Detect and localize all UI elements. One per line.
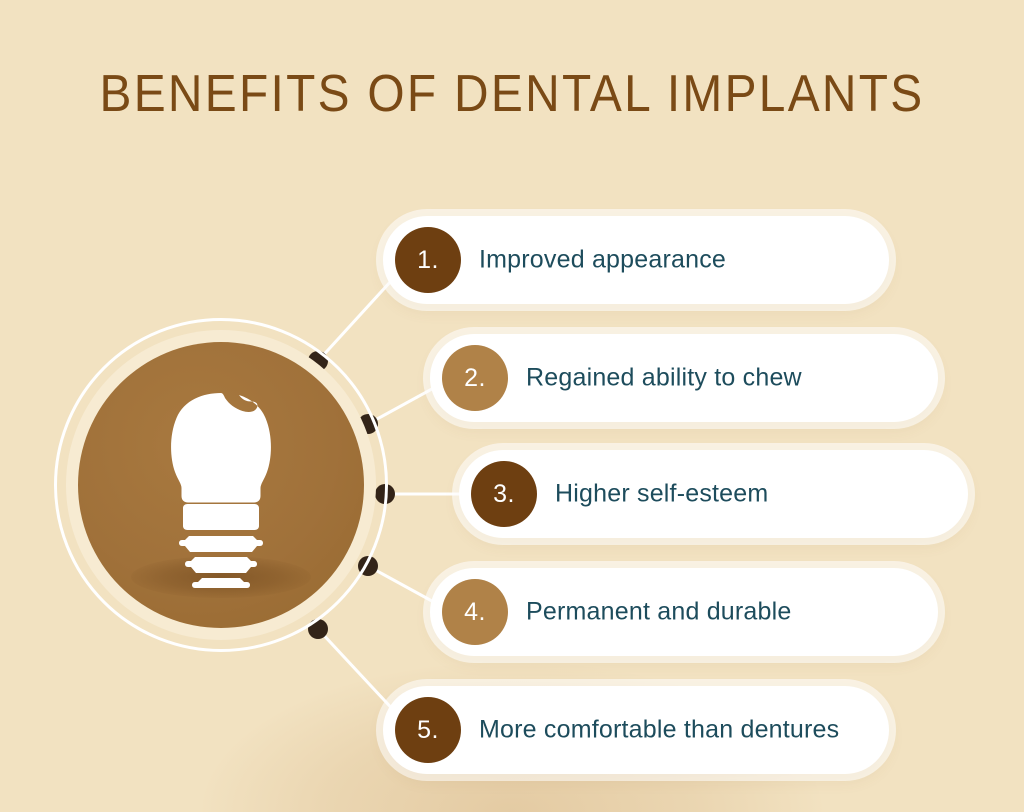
- benefit-label-4: Permanent and durable: [526, 598, 792, 627]
- benefit-row-2[interactable]: 2. Regained ability to chew: [430, 334, 938, 422]
- benefit-row-1[interactable]: 1. Improved appearance: [383, 216, 889, 304]
- dental-implant-icon: [156, 392, 286, 588]
- benefit-number-badge-4: 4.: [442, 579, 508, 645]
- benefit-row-3[interactable]: 3. Higher self-esteem: [459, 450, 968, 538]
- benefit-number-badge-3: 3.: [471, 461, 537, 527]
- medallion-disc: [78, 342, 364, 628]
- benefit-label-5: More comfortable than dentures: [479, 716, 839, 745]
- benefit-number-4: 4.: [464, 598, 486, 627]
- benefit-number-badge-5: 5.: [395, 697, 461, 763]
- benefit-row-5[interactable]: 5. More comfortable than dentures: [383, 686, 889, 774]
- page-title: BENEFITS OF DENTAL IMPLANTS: [41, 64, 983, 124]
- infographic-poster: BENEFITS OF DENTAL IMPLANTS: [0, 0, 1024, 812]
- benefit-row-4[interactable]: 4. Permanent and durable: [430, 568, 938, 656]
- benefit-label-2: Regained ability to chew: [526, 364, 802, 393]
- benefit-number-2: 2.: [464, 364, 486, 393]
- benefit-label-3: Higher self-esteem: [555, 480, 768, 509]
- benefit-number-badge-2: 2.: [442, 345, 508, 411]
- benefit-label-1: Improved appearance: [479, 246, 726, 275]
- benefit-number-5: 5.: [417, 716, 439, 745]
- benefit-number-3: 3.: [493, 480, 515, 509]
- benefit-number-badge-1: 1.: [395, 227, 461, 293]
- implant-medallion: [54, 318, 388, 652]
- benefit-number-1: 1.: [417, 246, 439, 275]
